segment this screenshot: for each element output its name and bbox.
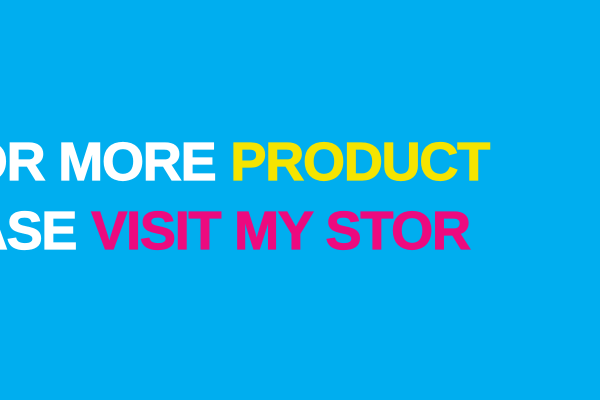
headline-segment-product: PRODUCT: [230, 132, 489, 192]
headline-segment-ease: EASE: [0, 201, 76, 261]
headline-space-1: [215, 132, 230, 192]
headline-segment-for-more: FOR MORE: [0, 132, 215, 192]
headline-segment-visit-my-store: VISIT MY STOR: [91, 201, 469, 261]
headline-line-2: EASE VISIT MY STOR: [0, 197, 600, 266]
headline-line-1: FOR MORE PRODUCT: [0, 128, 600, 197]
promo-banner: FOR MORE PRODUCT EASE VISIT MY STOR: [0, 0, 600, 400]
headline-text-block: FOR MORE PRODUCT EASE VISIT MY STOR: [0, 128, 600, 266]
headline-space-2: [76, 201, 91, 261]
